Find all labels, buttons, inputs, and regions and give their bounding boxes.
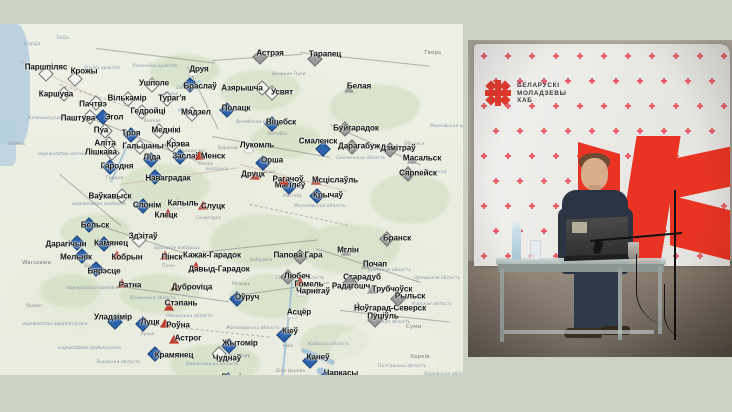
flower-dot <box>638 129 642 133</box>
town-label: Астрог <box>175 334 202 343</box>
basemap-label: Московская область <box>430 124 463 129</box>
town-label: Крожы <box>71 67 98 76</box>
town-label: Дарагічын <box>46 240 87 249</box>
town-label: Ратна <box>119 281 142 290</box>
town-label: Орша <box>261 156 283 165</box>
town-label: Дарагабуж <box>338 142 380 151</box>
basemap-label: Гродно <box>106 176 123 181</box>
flower-dot <box>482 254 486 258</box>
town-label: Кобрын <box>111 253 142 262</box>
town-label: Каршува <box>39 90 73 99</box>
map-canvas[interactable]: LiepājaŠiauliu apskritisPanevėžio apskri… <box>0 24 463 375</box>
hub-logo-emblem <box>485 80 511 106</box>
town-label: Давыд-Гарадок <box>188 265 249 274</box>
flower-dot <box>686 129 690 133</box>
flower-dot <box>518 179 522 183</box>
laptop-sticker <box>572 222 587 233</box>
table-lower-shelf <box>504 330 654 334</box>
flower-dot <box>614 79 618 83</box>
basemap-label: Біла Церква <box>276 369 305 374</box>
basemap-label: Liepāja <box>24 42 40 47</box>
town-label: Меднікі <box>151 126 180 135</box>
drinking-glass <box>530 240 541 260</box>
basemap-label: Орловская область <box>414 276 460 281</box>
basemap-label: województwo lubelskie <box>66 286 119 291</box>
town-label: Слонім <box>133 201 161 210</box>
forest-area <box>370 174 450 224</box>
town-label: Чаркасы <box>324 369 358 376</box>
basemap-label: województwo podlaskie <box>72 202 126 207</box>
flower-dot <box>602 54 606 58</box>
town-label: Асцёр <box>287 308 311 317</box>
flower-dot <box>566 129 570 133</box>
town-label: Камянец <box>94 239 128 248</box>
basemap-label: Panevėžio apskritis <box>133 64 177 69</box>
basemap-label: Смоленская область <box>336 156 386 161</box>
town-label: Мглін <box>337 246 359 255</box>
basemap-label: Рівненська область <box>166 314 213 319</box>
town-label: Пуціўль <box>367 312 398 321</box>
town-label: Жытомір <box>222 339 257 348</box>
basemap-label: Бобруйск <box>250 258 273 263</box>
town-label: Пачтвэ <box>79 100 107 109</box>
town-label: Браслаў <box>183 82 216 91</box>
flower-dot <box>482 204 486 208</box>
town-label: Кажак-Гарадок <box>183 251 241 260</box>
flower-dot <box>602 104 606 108</box>
flower-dot <box>554 204 558 208</box>
basemap-label: Gdańsk <box>8 142 25 147</box>
town-label: Вінніца <box>222 373 251 376</box>
flower-dot <box>626 154 630 158</box>
flower-dot <box>482 54 486 58</box>
town-label: Крэва <box>166 140 189 149</box>
map-panel[interactable]: LiepājaŠiauliu apskritisPanevėžio apskri… <box>0 24 463 375</box>
town-label: Лішкава <box>85 148 117 157</box>
basemap-label: Telšiu <box>56 36 69 41</box>
town-label: Сярпейск <box>399 169 437 178</box>
town-label: Чуднаў <box>213 354 241 363</box>
town-label: Пінск <box>161 253 182 262</box>
flower-dot <box>662 129 666 133</box>
town-label: Оўруч <box>235 293 259 302</box>
logo-line-1: БЕЛАРУСКІ <box>517 82 567 90</box>
town-label: Слуцк <box>201 202 225 211</box>
town-label: Тураг'я <box>158 94 186 103</box>
basemap-label: Пінск <box>162 264 175 269</box>
town-label: Менск <box>201 152 225 161</box>
town-label: Паршпіляс <box>25 63 68 72</box>
town-label: Ушполе <box>139 79 169 88</box>
flower-dot <box>626 104 630 108</box>
town-label: Друцк <box>241 170 265 179</box>
town-label: Гародня <box>101 162 134 171</box>
basemap-label: Магілёў <box>283 194 302 199</box>
flower-dot <box>698 54 702 58</box>
flower-dot <box>554 54 558 58</box>
basemap-label: Полтавська область <box>378 364 427 369</box>
town-label: Тарапец <box>309 50 341 59</box>
flower-dot <box>590 129 594 133</box>
flower-dot <box>698 254 702 258</box>
basemap-label: Хмельницька область <box>186 362 239 367</box>
town-label: Троя <box>122 129 141 138</box>
town-label: Паштува <box>61 114 95 123</box>
flower-dot <box>626 54 630 58</box>
basemap-label: Львівська область <box>96 360 140 365</box>
flower-dot <box>494 179 498 183</box>
town-label: Почап <box>363 260 387 269</box>
basemap-label: Харківська область <box>424 372 463 375</box>
basemap-label: Warszawa <box>22 260 51 266</box>
town-label: Вількамір <box>107 94 146 103</box>
basemap-label: Солигорск <box>196 216 221 221</box>
logo-line-2: МОЛАДЗЕВЫ <box>517 90 567 98</box>
town-label: Канеў <box>307 353 330 362</box>
slide-stage: LiepājaŠiauliu apskritisPanevėžio apskri… <box>0 0 732 412</box>
flower-dot <box>578 54 582 58</box>
logo-line-3: ХАБ <box>517 97 567 105</box>
flower-dot <box>506 204 510 208</box>
basemap-label: Київ <box>283 344 293 349</box>
flower-dot <box>506 154 510 158</box>
bottle-cap <box>513 222 520 227</box>
basemap-label: województwo świętokrzyskie <box>22 322 88 327</box>
town-label: Масальск <box>403 154 441 163</box>
flower-dot <box>542 179 546 183</box>
town-label: Бельск <box>81 221 109 230</box>
flower-dot <box>578 104 582 108</box>
flower-dot <box>686 79 690 83</box>
town-label: Радагошч <box>332 282 370 291</box>
town-label: Бранск <box>383 234 411 243</box>
flower-dot <box>674 104 678 108</box>
town-label: Бярэсце <box>87 267 120 276</box>
town-label: Мсціслаўль <box>312 176 358 185</box>
town-label: Стэпань <box>165 299 198 308</box>
town-label: Рагачоў <box>273 175 304 184</box>
flower-dot <box>554 154 558 158</box>
hub-logo-text: БЕЛАРУСКІ МОЛАДЗЕВЫ ХАБ <box>517 82 567 105</box>
town-label: Ліда <box>143 153 160 162</box>
flower-dot <box>566 179 570 183</box>
flower-dot <box>638 79 642 83</box>
flower-dot <box>542 129 546 133</box>
flower-dot <box>614 129 618 133</box>
basemap-label: Київська область <box>308 342 350 347</box>
forest-area <box>40 274 100 308</box>
town-label: Мядзел <box>181 108 211 117</box>
basemap-label: Беларусь <box>206 167 228 172</box>
speaker-legs <box>574 268 618 332</box>
town-label: Уладзімір <box>94 313 132 322</box>
flower-dot <box>494 229 498 233</box>
town-label: Кіеў <box>282 327 298 336</box>
basemap-label: Могилёвская область <box>294 204 346 209</box>
town-label: Азярышча <box>221 84 263 93</box>
flower-dot <box>650 54 654 58</box>
flower-dot <box>542 229 546 233</box>
flower-dot <box>530 54 534 58</box>
flower-dot <box>650 104 654 108</box>
basemap-label: Тверь <box>424 50 442 56</box>
basemap-label: Минск <box>198 162 213 167</box>
town-label: Буйгарадок <box>333 124 379 133</box>
water-bottle <box>512 226 521 260</box>
town-label: Смаленск <box>299 137 337 146</box>
town-label: Луцк <box>141 318 160 327</box>
flower-dot <box>710 79 714 83</box>
town-label: Рыльск <box>395 292 425 301</box>
town-label: Астрэя <box>256 49 284 58</box>
town-label: Дзмітраў <box>380 144 415 153</box>
town-label: Гедройці <box>130 107 165 116</box>
flower-dot <box>530 154 534 158</box>
flower-dot <box>566 79 570 83</box>
flower-dot <box>518 129 522 133</box>
town-label: Дуброviца <box>172 283 213 292</box>
basemap-label: Харків <box>410 354 430 360</box>
town-label: Роўна <box>166 321 190 330</box>
town-label: Капыль <box>168 199 199 208</box>
town-label: Друя <box>189 65 208 74</box>
flower-dot <box>722 54 726 58</box>
town-label: Лукомль <box>240 141 274 150</box>
flower-dot <box>530 204 534 208</box>
flower-dot <box>494 129 498 133</box>
flower-dot <box>698 104 702 108</box>
basemap-label: Луцьк <box>140 332 155 337</box>
town-label: Крычаў <box>313 191 343 200</box>
flower-dot <box>506 54 510 58</box>
basemap-label: Витебск <box>268 132 288 137</box>
town-label: Гальшаны <box>122 142 163 151</box>
town-label: Клецк <box>154 211 177 220</box>
basemap-label: Великие Луки <box>272 72 306 77</box>
town-label: Мельнік <box>60 253 92 262</box>
town-label: Полацк <box>222 104 251 113</box>
basemap-label: Radom <box>26 304 42 309</box>
town-label: Наваградак <box>145 174 190 183</box>
town-label: Віцебск <box>266 118 296 127</box>
town-label: Папова Гара <box>273 251 322 260</box>
basemap-label: województwo podkarpackie <box>58 346 121 351</box>
flower-dot <box>482 154 486 158</box>
town-label: Крамянец <box>155 351 194 360</box>
speaker-video-panel[interactable]: БЕЛАРУСКІ МОЛАДЗЕВЫ ХАБ <box>468 40 732 357</box>
town-label: Эгол <box>105 113 124 122</box>
basemap-label: Мозырь <box>232 282 250 287</box>
town-label: Усвят <box>271 88 293 97</box>
town-label: Гомель <box>294 280 323 289</box>
town-label: Здзітаў <box>129 232 158 241</box>
flower-dot <box>722 104 726 108</box>
town-label: Ваўкавыск <box>89 192 132 201</box>
flower-dot <box>662 79 666 83</box>
flower-dot <box>710 129 714 133</box>
flower-dot <box>674 54 678 58</box>
basemap-label: Борисов <box>218 146 238 151</box>
town-label: Белая <box>347 82 371 91</box>
flower-dot <box>590 79 594 83</box>
basemap-label: Житомирська область <box>226 326 280 331</box>
town-label: Пуа <box>94 126 108 135</box>
